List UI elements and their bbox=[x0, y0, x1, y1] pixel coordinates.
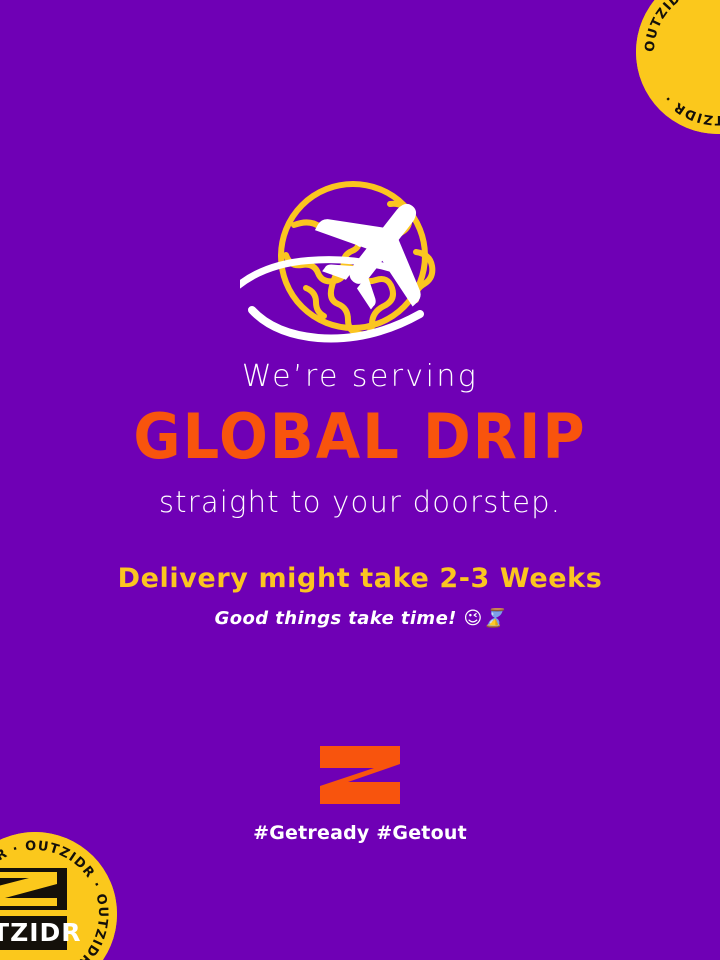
badge-inner-wordmark: OUTZIDR bbox=[0, 918, 82, 947]
tagline-text: Good things take time! 😉⌛ bbox=[0, 610, 720, 628]
copy-block: We’re serving GLOBAL DRIP straight to yo… bbox=[0, 362, 720, 628]
footer-block: #Getready #Getout bbox=[0, 746, 720, 843]
page-title: GLOBAL DRIP bbox=[0, 406, 720, 468]
outzidr-z-monogram bbox=[318, 746, 402, 804]
brand-badge-top-right: OUTZIDR · OUTZIDR · OUTZIDR · OUTZIDR · bbox=[636, 0, 720, 134]
subheadline-text: straight to your doorstep. bbox=[0, 488, 720, 517]
delivery-notice: Delivery might take 2-3 Weeks bbox=[0, 565, 720, 592]
poster-canvas: We’re serving GLOBAL DRIP straight to yo… bbox=[0, 0, 720, 960]
eyebrow-text: We’re serving bbox=[0, 362, 720, 392]
brand-badge-bottom-left: OUTZIDR · OUTZIDR · OUTZIDR · OUTZIDR · … bbox=[0, 832, 117, 960]
globe-with-airplane-icon bbox=[240, 168, 480, 344]
